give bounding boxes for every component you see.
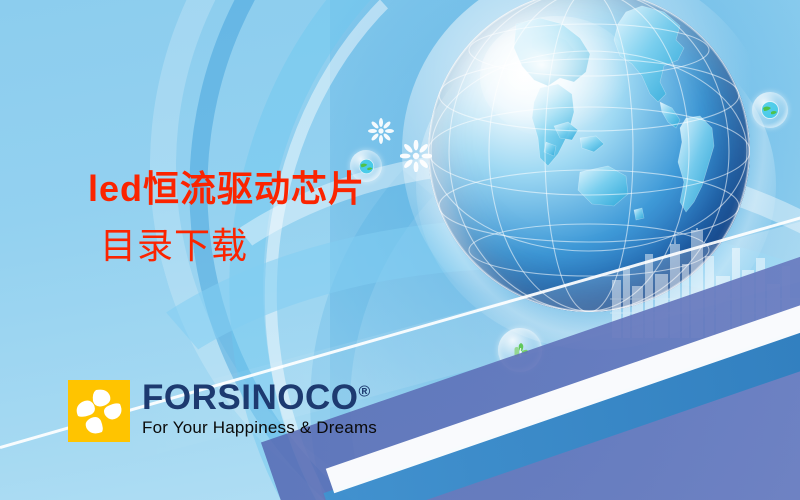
logo-wordmark-text: FORSINOCO xyxy=(142,378,358,417)
flower-icon-1 xyxy=(368,118,394,144)
promo-banner: led恒流驱动芯片 目录下载 FORSINOCO® For Your Happi… xyxy=(0,0,800,500)
headline-block: led恒流驱动芯片 目录下载 xyxy=(88,160,365,276)
forsinoco-pinwheel-mark xyxy=(68,380,130,442)
bubble-globe-icon-right xyxy=(752,92,788,128)
globe-icon-right xyxy=(760,100,780,120)
headline-line-2: 目录下载 xyxy=(88,218,365,276)
brand-logo: FORSINOCO® For Your Happiness & Dreams xyxy=(68,380,377,442)
bubble-leaf-icon xyxy=(498,328,542,372)
leaf-icon xyxy=(507,337,533,363)
logo-tagline: For Your Happiness & Dreams xyxy=(142,417,377,439)
headline-line-1: led恒流驱动芯片 xyxy=(88,160,365,218)
city-skyline-silhouette xyxy=(610,228,800,338)
registered-trademark-icon: ® xyxy=(358,383,370,400)
logo-wordmark: FORSINOCO® xyxy=(142,380,377,416)
pinwheel-icon xyxy=(68,380,130,442)
logo-text-lockup: FORSINOCO® For Your Happiness & Dreams xyxy=(142,380,377,439)
flower-icon-2 xyxy=(400,140,432,172)
